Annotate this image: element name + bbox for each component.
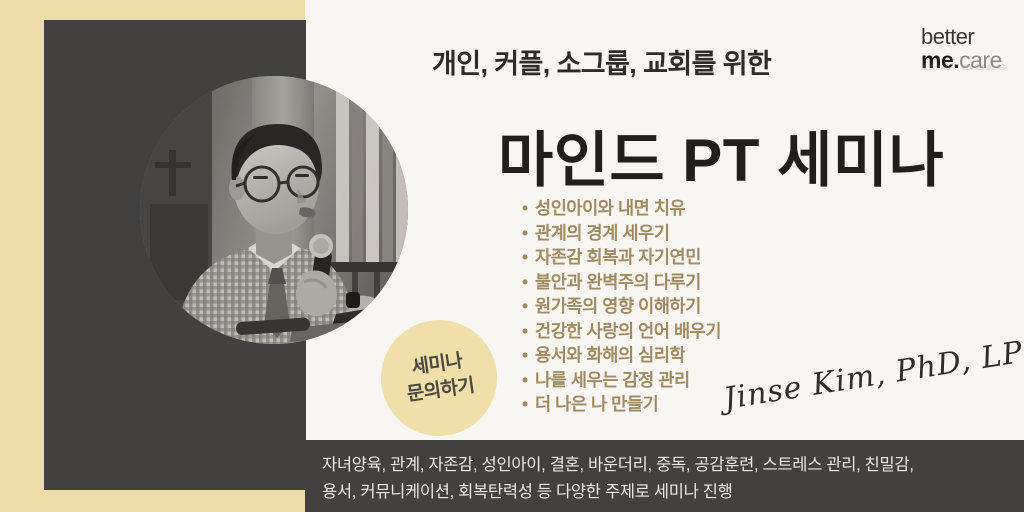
bullet-dot-icon: •: [522, 294, 535, 319]
topic-label: 용서와 화해의 심리학: [535, 345, 685, 365]
bullet-dot-icon: •: [522, 245, 535, 270]
speaker-portrait: [140, 76, 408, 344]
bullet-dot-icon: •: [522, 319, 535, 344]
list-item: •용서와 화해의 심리학: [522, 343, 721, 368]
banner-title: 마인드 PT 세미나: [498, 112, 944, 199]
list-item: •건강한 사랑의 언어 배우기: [522, 319, 721, 344]
portrait-photo-image: [140, 76, 408, 344]
footer-line-1: 자녀양육, 관계, 자존감, 성인아이, 결혼, 바운더리, 중독, 공감훈련,…: [322, 452, 1012, 479]
topic-label: 나를 세우는 감정 관리: [535, 370, 690, 390]
topic-label: 더 나은 나 만들기: [535, 394, 658, 414]
bullet-dot-icon: •: [522, 343, 535, 368]
logo-reflection: me.care: [921, 63, 1008, 73]
bullet-dot-icon: •: [522, 368, 535, 393]
seminar-promo-banner: 세미나 문의하기 better me.care me.care 개인, 커플, …: [0, 0, 1024, 512]
topic-bullet-list: •성인아이와 내면 치유 •관계의 경계 세우기 •자존감 회복과 자기연민 •…: [522, 196, 721, 417]
topic-label: 자존감 회복과 자기연민: [535, 247, 701, 267]
topic-label: 관계의 경계 세우기: [535, 223, 670, 243]
topic-label: 건강한 사랑의 언어 배우기: [535, 321, 721, 341]
bullet-dot-icon: •: [522, 221, 535, 246]
list-item: •나를 세우는 감정 관리: [522, 368, 721, 393]
topic-label: 원가족의 영향 이해하기: [535, 296, 701, 316]
logo-word-better: better: [921, 26, 1008, 48]
list-item: •성인아이와 내면 치유: [522, 196, 721, 221]
list-item: •불안과 완벽주의 다루기: [522, 270, 721, 295]
brand-logo[interactable]: better me.care me.care: [921, 26, 1008, 96]
footer-line-2: 용서, 커뮤니케이션, 회복탄력성 등 다양한 주제로 세미나 진행: [322, 479, 1012, 506]
bullet-dot-icon: •: [522, 392, 535, 417]
topic-label: 성인아이와 내면 치유: [535, 198, 685, 218]
list-item: •자존감 회복과 자기연민: [522, 245, 721, 270]
banner-subtitle: 개인, 커플, 소그룹, 교회를 위한: [432, 42, 771, 81]
list-item: •관계의 경계 세우기: [522, 221, 721, 246]
list-item: •원가족의 영향 이해하기: [522, 294, 721, 319]
bullet-dot-icon: •: [522, 196, 535, 221]
list-item: •더 나은 나 만들기: [522, 392, 721, 417]
footer-topics-text: 자녀양육, 관계, 자존감, 성인아이, 결혼, 바운더리, 중독, 공감훈련,…: [322, 452, 1012, 506]
bullet-dot-icon: •: [522, 270, 535, 295]
topic-label: 불안과 완벽주의 다루기: [535, 272, 701, 292]
